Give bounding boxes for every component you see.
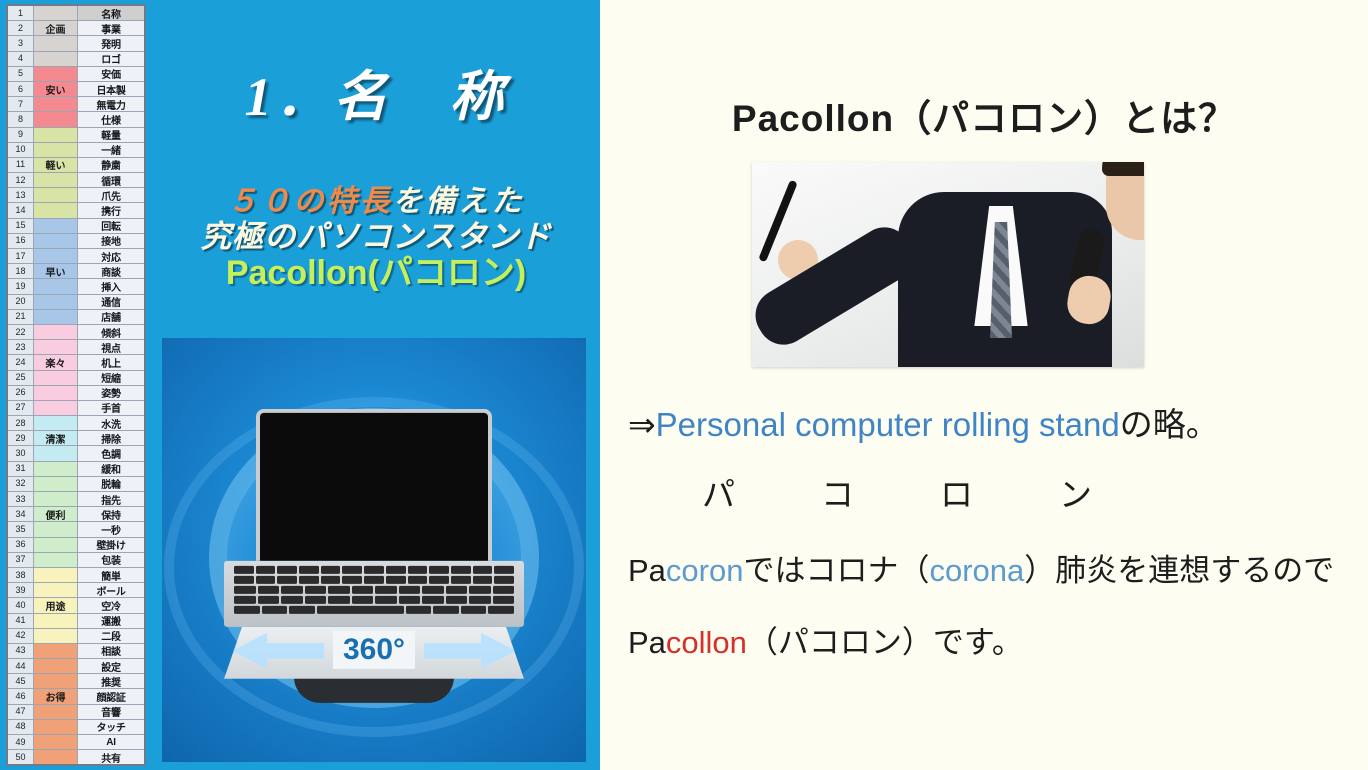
row-category [34, 614, 78, 628]
row-feature-name: 発明 [78, 36, 144, 50]
row-number: 23 [8, 340, 34, 354]
product-subtitle: ５０の特長を備えた 究極のパソコンスタンド Pacollon(パコロン) [150, 186, 602, 292]
row-feature-name: AI [78, 735, 144, 749]
table-row[interactable]: 10一緒 [8, 143, 144, 158]
row-number: 8 [8, 112, 34, 126]
row-category [34, 553, 78, 567]
row-category: 楽々 [34, 355, 78, 369]
row-category [34, 644, 78, 658]
row-number: 32 [8, 477, 34, 491]
row-category [34, 568, 78, 582]
definition-line: ⇒Personal computer rolling standの略。 [628, 398, 1358, 446]
row-number: 22 [8, 325, 34, 339]
arrow-icon: ⇒ [628, 406, 656, 443]
table-row[interactable]: 46お得顔認証 [8, 689, 144, 704]
row-number: 27 [8, 401, 34, 415]
row-category [34, 583, 78, 597]
rotate-arrow-right-icon [424, 633, 516, 669]
row-feature-name: 包装 [78, 553, 144, 567]
table-row[interactable]: 37包装 [8, 553, 144, 568]
row-number: 28 [8, 416, 34, 430]
row-category [34, 401, 78, 415]
row-feature-name: 推奨 [78, 674, 144, 688]
row-number: 14 [8, 203, 34, 217]
row-number: 13 [8, 188, 34, 202]
row-number: 26 [8, 386, 34, 400]
table-row[interactable]: 21店舗 [8, 310, 144, 325]
row-number: 16 [8, 234, 34, 248]
row-feature-name: 事業 [78, 21, 144, 35]
row-number: 30 [8, 446, 34, 460]
row-category [34, 416, 78, 430]
row-number: 45 [8, 674, 34, 688]
row-category [34, 720, 78, 734]
row-feature-name: 店舗 [78, 310, 144, 324]
row-category [34, 279, 78, 293]
row-feature-name: 商談 [78, 264, 144, 278]
row-category [34, 310, 78, 324]
table-row[interactable]: 3発明 [8, 36, 144, 51]
table-row[interactable]: 38簡単 [8, 568, 144, 583]
row-number: 47 [8, 705, 34, 719]
row-category [34, 52, 78, 66]
row-category [34, 674, 78, 688]
table-row[interactable]: 32脱輪 [8, 477, 144, 492]
row-feature-name: 姿勢 [78, 386, 144, 400]
row-number: 39 [8, 583, 34, 597]
kana-character: コ [821, 468, 854, 516]
collon-text: （パコロン）です。 [747, 625, 1023, 660]
row-number: 31 [8, 462, 34, 476]
row-number: 34 [8, 507, 34, 521]
row-category [34, 386, 78, 400]
row-number: 4 [8, 52, 34, 66]
coron-pa: Pa [628, 553, 666, 588]
subtitle-rest: を備えた [393, 185, 525, 218]
table-row[interactable]: 41運搬 [8, 614, 144, 629]
slide-root: 1名称2企画事業3発明4ロゴ5安価6安い日本製7無電力8仕様9軽量10一緒11軽… [0, 0, 1368, 770]
row-feature-name: 軽量 [78, 128, 144, 142]
badge-360: 360° [333, 631, 415, 669]
row-feature-name: 設定 [78, 659, 144, 673]
row-category [34, 203, 78, 217]
laptop-palmrest: 360° [224, 627, 524, 679]
row-number: 11 [8, 158, 34, 172]
row-feature-name: 緩和 [78, 462, 144, 476]
table-row[interactable]: 25短縮 [8, 371, 144, 386]
row-category [34, 705, 78, 719]
definition-japanese: の略。 [1120, 406, 1219, 443]
row-number: 15 [8, 219, 34, 233]
coron-text-1: ではコロナ（ [743, 553, 929, 588]
row-category: 清潔 [34, 431, 78, 445]
row-feature-name: 爪先 [78, 188, 144, 202]
presenter-photo [752, 162, 1144, 367]
collon-pa: Pa [628, 625, 666, 660]
table-row[interactable]: 34便利保持 [8, 507, 144, 522]
row-category [34, 6, 78, 20]
row-category [34, 112, 78, 126]
row-number: 43 [8, 644, 34, 658]
subtitle-line-1: ５０の特長を備えた [150, 186, 602, 218]
row-feature-name: 循環 [78, 173, 144, 187]
row-category [34, 188, 78, 202]
row-feature-name: タッチ [78, 720, 144, 734]
table-row[interactable]: 22傾斜 [8, 325, 144, 340]
row-feature-name: 簡単 [78, 568, 144, 582]
row-category: お得 [34, 689, 78, 703]
section-headline: 1．名 称 [156, 52, 596, 131]
row-category [34, 36, 78, 50]
table-row[interactable]: 8仕様 [8, 112, 144, 127]
row-number: 9 [8, 128, 34, 142]
row-feature-name: 短縮 [78, 371, 144, 385]
table-row[interactable]: 9軽量 [8, 128, 144, 143]
row-feature-name: 無電力 [78, 97, 144, 111]
row-feature-name: 保持 [78, 507, 144, 521]
row-category [34, 522, 78, 536]
table-row[interactable]: 20通信 [8, 295, 144, 310]
row-feature-name: 視点 [78, 340, 144, 354]
row-category: 早い [34, 264, 78, 278]
laptop-screen [256, 409, 492, 561]
row-category [34, 67, 78, 81]
row-number: 29 [8, 431, 34, 445]
collon-conclusion-line: Pacollon（パコロン）です。 [628, 617, 1358, 662]
row-feature-name: 壁掛け [78, 538, 144, 552]
row-number: 44 [8, 659, 34, 673]
row-feature-name: 安価 [78, 67, 144, 81]
table-row[interactable]: 29清潔掃除 [8, 431, 144, 446]
row-number: 21 [8, 310, 34, 324]
coron-highlight: coron [666, 553, 744, 588]
row-number: 25 [8, 371, 34, 385]
table-row[interactable]: 16接地 [8, 234, 144, 249]
row-feature-name: 運搬 [78, 614, 144, 628]
row-feature-name: 対応 [78, 249, 144, 263]
table-row[interactable]: 44設定 [8, 659, 144, 674]
row-category [34, 477, 78, 491]
row-number: 12 [8, 173, 34, 187]
kana-character: パ [702, 468, 735, 516]
row-feature-name: 脱輪 [78, 477, 144, 491]
row-feature-name: 日本製 [78, 82, 144, 96]
laptop-keyboard [224, 561, 524, 627]
subtitle-line-2: 究極のパソコンスタンド [150, 220, 602, 253]
row-category [34, 234, 78, 248]
table-row[interactable]: 5安価 [8, 67, 144, 82]
coron-text-2: ）肺炎を連想するので [1024, 553, 1334, 588]
table-row[interactable]: 11軽い静粛 [8, 158, 144, 173]
table-row[interactable]: 42二段 [8, 629, 144, 644]
row-number: 3 [8, 36, 34, 50]
table-row[interactable]: 33指先 [8, 492, 144, 507]
row-feature-name: 挿入 [78, 279, 144, 293]
row-number: 40 [8, 598, 34, 612]
kana-breakdown-row: パコロン [678, 468, 1358, 516]
kana-character: ロ [940, 468, 973, 516]
row-category [34, 340, 78, 354]
table-row[interactable]: 50共有 [8, 750, 144, 764]
row-number: 35 [8, 522, 34, 536]
row-number: 37 [8, 553, 34, 567]
row-category [34, 446, 78, 460]
row-category [34, 629, 78, 643]
table-row[interactable]: 48タッチ [8, 720, 144, 735]
rotate-arrow-left-icon [232, 633, 324, 669]
row-feature-name: 仕様 [78, 112, 144, 126]
coron-explanation-line: Pacoronではコロナ（corona）肺炎を連想するので [628, 545, 1358, 590]
table-row[interactable]: 35一秒 [8, 522, 144, 537]
row-number: 5 [8, 67, 34, 81]
table-row[interactable]: 39ボール [8, 583, 144, 598]
row-feature-name: 指先 [78, 492, 144, 506]
row-number: 1 [8, 6, 34, 20]
laptop-illustration: 360° [224, 409, 524, 703]
row-category: 安い [34, 82, 78, 96]
row-number: 33 [8, 492, 34, 506]
table-row[interactable]: 13爪先 [8, 188, 144, 203]
subtitle-highlight: ５０の特長 [228, 185, 393, 218]
table-row[interactable]: 49AI [8, 735, 144, 750]
table-row[interactable]: 6安い日本製 [8, 82, 144, 97]
right-panel: Pacollon（パコロン）とは？ ⇒Personal computer rol… [600, 0, 1368, 770]
row-number: 41 [8, 614, 34, 628]
row-category: 軽い [34, 158, 78, 172]
subtitle-line-3: Pacollon(パコロン) [150, 255, 602, 292]
row-category [34, 371, 78, 385]
row-category [34, 462, 78, 476]
row-feature-name: 手首 [78, 401, 144, 415]
row-category [34, 143, 78, 157]
row-category [34, 128, 78, 142]
row-feature-name: 携行 [78, 203, 144, 217]
row-category [34, 295, 78, 309]
table-row[interactable]: 23視点 [8, 340, 144, 355]
kana-character: ン [1059, 468, 1092, 516]
table-row[interactable]: 17対応 [8, 249, 144, 264]
row-feature-name: 回転 [78, 219, 144, 233]
row-category: 企画 [34, 21, 78, 35]
table-row[interactable]: 40用途空冷 [8, 598, 144, 613]
row-feature-name: 顔認証 [78, 689, 144, 703]
table-row[interactable]: 27手首 [8, 401, 144, 416]
row-feature-name: 水洗 [78, 416, 144, 430]
row-feature-name: 一秒 [78, 522, 144, 536]
row-number: 24 [8, 355, 34, 369]
table-row[interactable]: 36壁掛け [8, 538, 144, 553]
table-row[interactable]: 45推奨 [8, 674, 144, 689]
row-number: 20 [8, 295, 34, 309]
row-category [34, 219, 78, 233]
table-row[interactable]: 28水洗 [8, 416, 144, 431]
page-title: Pacollon（パコロン）とは？ [600, 88, 1368, 142]
definition-english: Personal computer rolling stand [656, 406, 1120, 443]
section-title: 1．名 称 [156, 52, 596, 131]
table-row[interactable]: 4ロゴ [8, 52, 144, 67]
table-row[interactable]: 12循環 [8, 173, 144, 188]
table-row[interactable]: 30色調 [8, 446, 144, 461]
row-category: 用途 [34, 598, 78, 612]
table-row[interactable]: 19挿入 [8, 279, 144, 294]
table-row[interactable]: 47音響 [8, 705, 144, 720]
row-category [34, 735, 78, 749]
row-category [34, 325, 78, 339]
presenter-suit [898, 192, 1112, 367]
row-category [34, 538, 78, 552]
table-row[interactable]: 15回転 [8, 219, 144, 234]
row-category: 便利 [34, 507, 78, 521]
row-number: 18 [8, 264, 34, 278]
row-feature-name: 空冷 [78, 598, 144, 612]
row-feature-name: 一緒 [78, 143, 144, 157]
table-row[interactable]: 14携行 [8, 203, 144, 218]
table-row[interactable]: 7無電力 [8, 97, 144, 112]
table-row[interactable]: 2企画事業 [8, 21, 144, 36]
row-number: 46 [8, 689, 34, 703]
row-number: 50 [8, 750, 34, 764]
row-number: 2 [8, 21, 34, 35]
row-number: 7 [8, 97, 34, 111]
corona-word: corona [929, 553, 1024, 588]
row-feature-name: 通信 [78, 295, 144, 309]
table-row[interactable]: 18早い商談 [8, 264, 144, 279]
row-number: 17 [8, 249, 34, 263]
row-feature-name: ロゴ [78, 52, 144, 66]
row-feature-name: 傾斜 [78, 325, 144, 339]
table-row[interactable]: 1名称 [8, 6, 144, 21]
row-feature-name: 掃除 [78, 431, 144, 445]
row-feature-name: 机上 [78, 355, 144, 369]
row-number: 48 [8, 720, 34, 734]
presenter-hair [1102, 162, 1144, 176]
row-feature-name: 名称 [78, 6, 144, 20]
row-category [34, 659, 78, 673]
row-category [34, 97, 78, 111]
table-row[interactable]: 43相談 [8, 644, 144, 659]
row-feature-name: 二段 [78, 629, 144, 643]
table-row[interactable]: 24楽々机上 [8, 355, 144, 370]
product-photo: 360° [162, 338, 586, 762]
row-feature-name: 接地 [78, 234, 144, 248]
row-feature-name: 静粛 [78, 158, 144, 172]
collon-highlight: collon [666, 625, 747, 660]
row-feature-name: 共有 [78, 750, 144, 764]
row-number: 10 [8, 143, 34, 157]
row-number: 6 [8, 82, 34, 96]
row-number: 19 [8, 279, 34, 293]
row-category [34, 173, 78, 187]
row-feature-name: 相談 [78, 644, 144, 658]
row-number: 38 [8, 568, 34, 582]
row-category [34, 750, 78, 764]
row-feature-name: 色調 [78, 446, 144, 460]
row-category [34, 249, 78, 263]
row-feature-name: 音響 [78, 705, 144, 719]
table-row[interactable]: 26姿勢 [8, 386, 144, 401]
rotating-stand [294, 677, 454, 703]
row-category [34, 492, 78, 506]
feature-table[interactable]: 1名称2企画事業3発明4ロゴ5安価6安い日本製7無電力8仕様9軽量10一緒11軽… [6, 4, 146, 766]
row-number: 36 [8, 538, 34, 552]
left-panel: 1名称2企画事業3発明4ロゴ5安価6安い日本製7無電力8仕様9軽量10一緒11軽… [0, 0, 600, 770]
row-number: 42 [8, 629, 34, 643]
table-row[interactable]: 31緩和 [8, 462, 144, 477]
row-number: 49 [8, 735, 34, 749]
row-feature-name: ボール [78, 583, 144, 597]
